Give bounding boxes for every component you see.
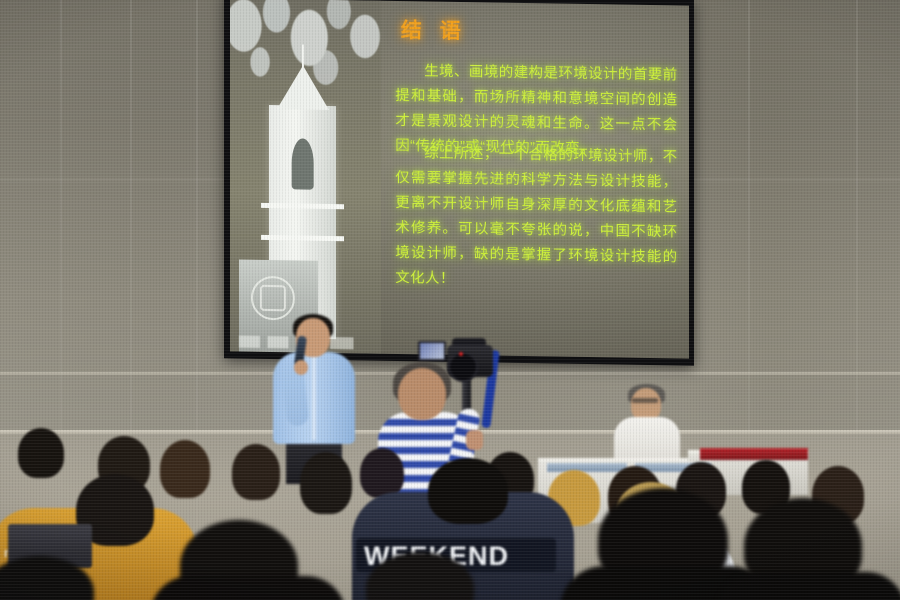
audience-head xyxy=(300,452,352,514)
audience-head xyxy=(160,440,210,498)
projection-screen-frame: 结 语 生境、画境的建构是环境设计的首要前提和基础，而场所精神和意境空间的创造才… xyxy=(224,0,694,366)
videographer-hand xyxy=(466,430,483,450)
lecture-hall-photo: 结 语 生境、画境的建构是环境设计的首要前提和基础，而场所精神和意境空间的创造才… xyxy=(0,0,900,600)
slide-paragraph-2: 综上所述，一个合格的环境设计师，不仅需要掌握先进的科学方法与设计技能，更离不开设… xyxy=(395,141,677,295)
audience-head xyxy=(360,448,404,498)
audience-head xyxy=(428,458,508,524)
desk-top-red xyxy=(700,448,808,460)
shirt-placket xyxy=(312,356,316,440)
camera-lens-icon xyxy=(448,352,478,382)
slide-photo-bell-tower xyxy=(230,0,381,354)
slide-title: 结 语 xyxy=(401,14,467,45)
camera-record-light xyxy=(459,352,463,356)
slide-text-area: 结 语 生境、画境的建构是环境设计的首要前提和基础，而场所精神和意境空间的创造才… xyxy=(395,1,677,358)
desk-edge-strip xyxy=(546,462,628,473)
tower-ledge xyxy=(261,235,344,241)
eyeglasses-icon xyxy=(632,398,658,403)
audience-shoulders-foreground xyxy=(150,576,346,600)
camera-monitor-icon xyxy=(418,341,446,361)
projected-slide: 结 语 生境、画境的建构是环境设计的首要前提和基础，而场所精神和意境空间的创造才… xyxy=(230,0,689,359)
speaker-hand xyxy=(294,360,308,375)
audience-head xyxy=(232,444,280,500)
videographer-head xyxy=(398,368,446,420)
audience-shoulders-foreground xyxy=(716,572,900,600)
audience-head xyxy=(18,428,64,478)
slide-paragraph-2-text: 综上所述，一个合格的环境设计师，不仅需要掌握先进的科学方法与设计技能，更离不开设… xyxy=(395,145,677,286)
tower-ledge xyxy=(261,203,344,209)
tower-window xyxy=(291,138,314,190)
